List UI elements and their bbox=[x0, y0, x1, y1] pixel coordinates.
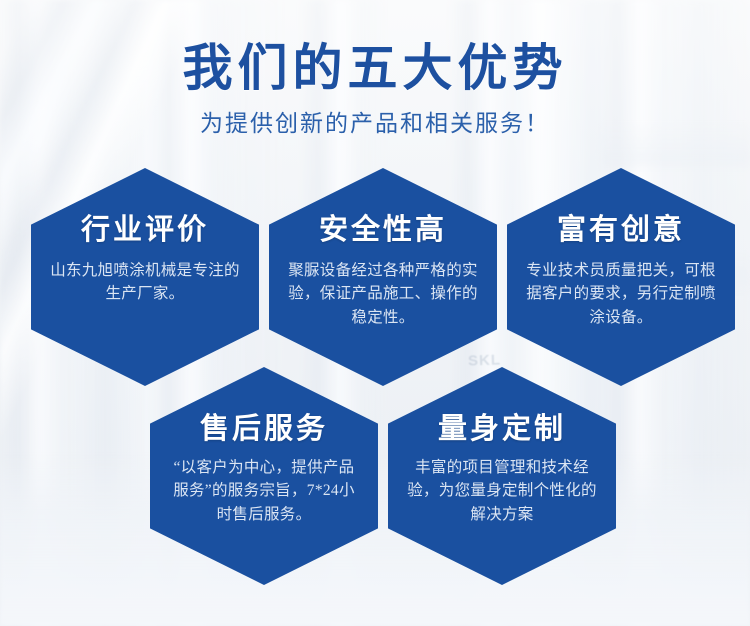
background-watermark: SKL bbox=[468, 351, 502, 369]
advantage-hexagon-tailor-made: 量身定制 丰富的项目管理和技术经验，为您量身定制个性化的解决方案 bbox=[388, 367, 616, 585]
advantage-hexagon-high-safety: 安全性高 聚脲设备经过各种严格的实验，保证产品施工、操作的稳定性。 bbox=[269, 168, 497, 386]
advantage-title: 安全性高 bbox=[269, 168, 497, 245]
page-title: 我们的五大优势 bbox=[0, 40, 750, 98]
advantages-banner: SKL 我们的五大优势 为提供创新的产品和相关服务！ 行业评价 山东九旭喷涂机械… bbox=[0, 0, 750, 626]
advantage-title: 售后服务 bbox=[150, 367, 378, 444]
advantage-body: 山东九旭喷涂机械是专注的生产厂家。 bbox=[31, 245, 259, 306]
advantage-hexagon-industry-rating: 行业评价 山东九旭喷涂机械是专注的生产厂家。 bbox=[31, 168, 259, 386]
page-subtitle: 为提供创新的产品和相关服务！ bbox=[0, 110, 750, 138]
advantage-title: 行业评价 bbox=[31, 168, 259, 245]
advantage-hexagon-after-sales: 售后服务 “以客户为中心，提供产品服务”的服务宗旨，7*24小时售后服务。 bbox=[150, 367, 378, 585]
advantage-title: 富有创意 bbox=[507, 168, 735, 245]
advantage-body: 专业技术员质量把关，可根据客户的要求，另行定制喷涂设备。 bbox=[507, 245, 735, 329]
advantage-body: 丰富的项目管理和技术经验，为您量身定制个性化的解决方案 bbox=[388, 444, 616, 526]
advantage-body: “以客户为中心，提供产品服务”的服务宗旨，7*24小时售后服务。 bbox=[150, 444, 378, 526]
advantage-hexagon-creative: 富有创意 专业技术员质量把关，可根据客户的要求，另行定制喷涂设备。 bbox=[507, 168, 735, 386]
advantage-body: 聚脲设备经过各种严格的实验，保证产品施工、操作的稳定性。 bbox=[269, 245, 497, 329]
header-block: 我们的五大优势 为提供创新的产品和相关服务！ bbox=[0, 40, 750, 137]
advantage-title: 量身定制 bbox=[388, 367, 616, 444]
